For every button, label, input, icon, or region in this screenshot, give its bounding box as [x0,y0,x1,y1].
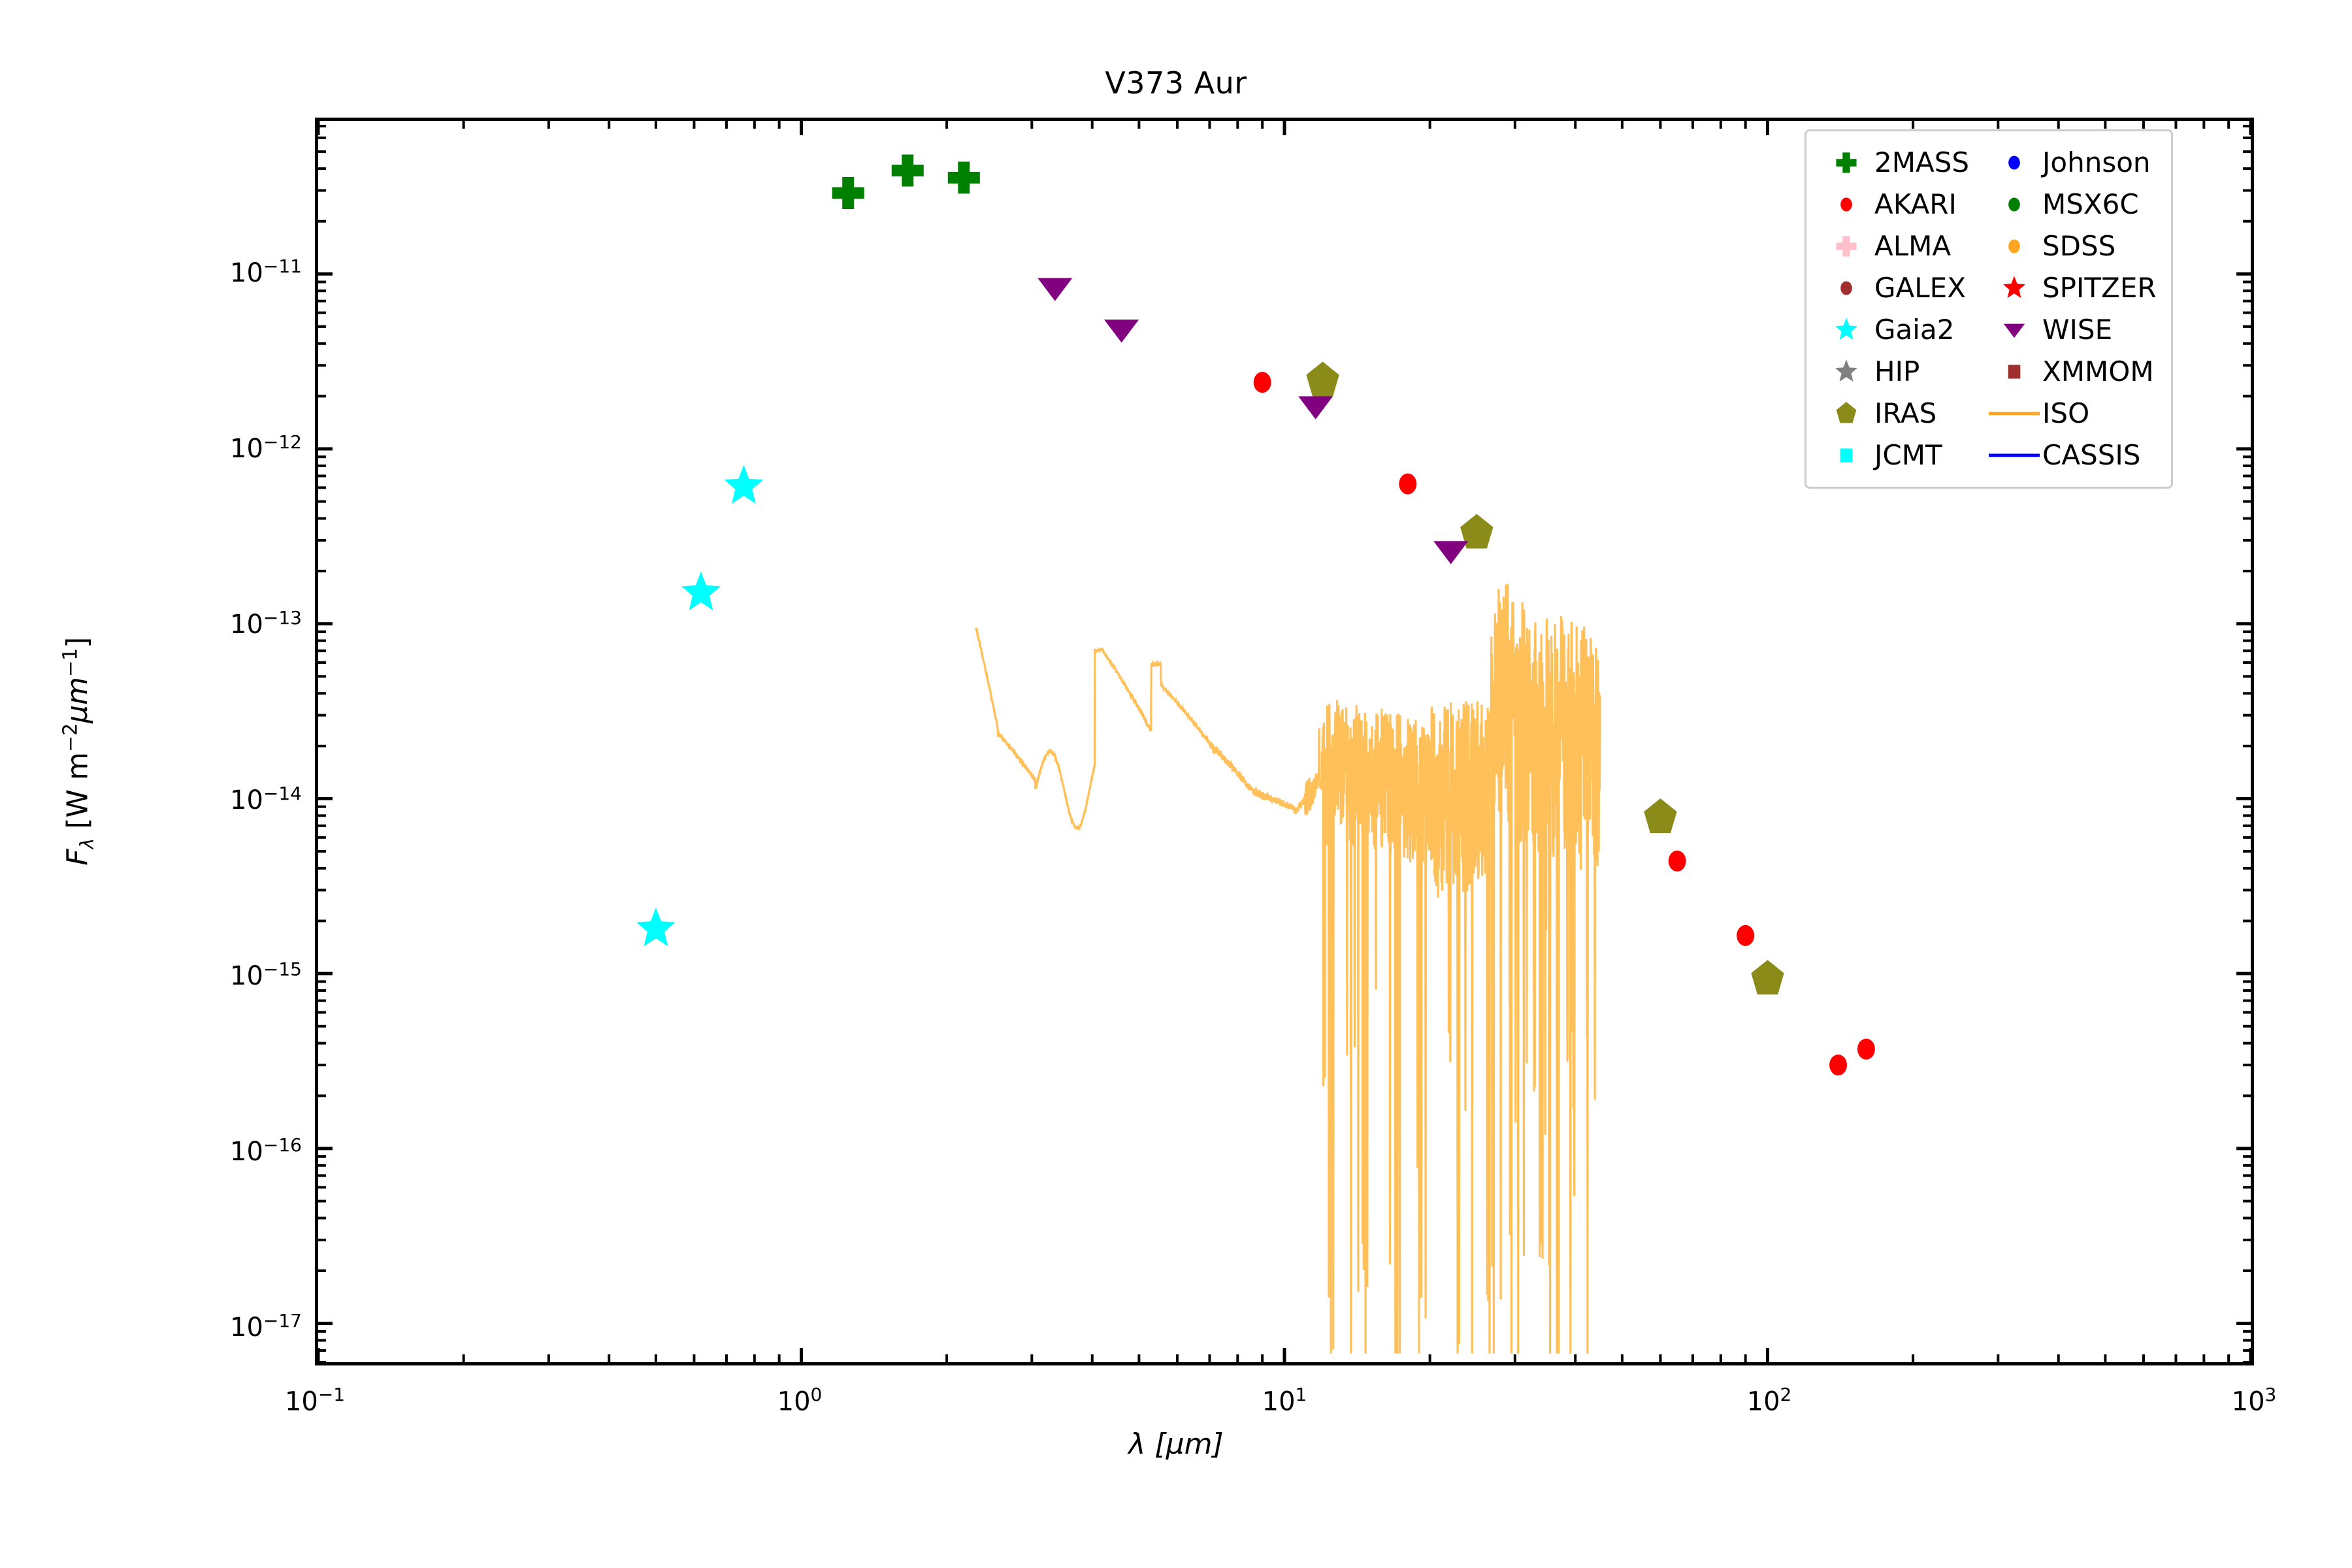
data-point [1433,541,1468,564]
x-tick-label: 103 [2232,1384,2277,1416]
legend-column-1: 2MASSAKARIALMAGALEXGaia2HIPIRASJCMT [1818,142,1969,476]
legend-label: Gaia2 [1874,316,1954,344]
legend-item-cassis[interactable]: CASSIS [1986,434,2157,476]
x-tick-label: 100 [777,1384,823,1416]
data-point [1399,474,1416,495]
legend-label: HIP [1874,358,1919,385]
legend-label: GALEX [1874,274,1966,302]
square-icon [1818,437,1874,474]
pentagon-icon [1818,395,1874,432]
circle-icon [1986,186,2042,223]
data-point [1737,925,1754,946]
legend-label: JCMT [1874,442,1942,469]
legend-marker-gaia2 [1818,312,1874,348]
legend-label: WISE [2042,316,2112,344]
legend-label: Johnson [2042,149,2151,176]
legend-item-spitzer[interactable]: SPITZER [1986,267,2157,309]
legend-label: ISO [2042,400,2089,427]
line-icon [1986,437,2042,474]
legend-marker-alma [1818,228,1874,265]
series-gaia2-points [636,465,763,947]
y-tick-label: 10−12 [139,431,302,463]
data-point [1306,362,1339,397]
data-point [1037,278,1072,301]
legend-label: XMMOM [2042,358,2154,385]
y-tick-label: 10−13 [139,607,302,640]
legend-item-johnson[interactable]: Johnson [1986,142,2157,184]
legend-label: CASSIS [2042,442,2140,469]
legend-marker-hip [1818,353,1874,390]
sed-figure: V373 Aur 10−110010110210310−1710−1610−15… [0,0,2352,1568]
legend-marker-galex [1818,270,1874,306]
data-point [681,572,721,611]
series-2mass-points [832,155,980,209]
legend-marker-wise [1986,312,2042,348]
data-point [892,155,924,187]
circle-icon [1986,228,2042,265]
legend-item-xmmom[interactable]: XMMOM [1986,351,2157,393]
circle-icon [1818,270,1874,306]
legend-item-2mass[interactable]: 2MASS [1818,142,1969,184]
data-point [636,907,676,947]
legend-marker-johnson [1986,144,2042,181]
x-axis-label: λ [μm] [0,1428,2352,1461]
legend-marker-jcmt [1818,437,1874,474]
legend-marker-spitzer [1986,270,2042,306]
legend-marker-akari [1818,186,1874,223]
legend-marker-msx6c [1986,186,2042,223]
legend-marker-cassis [1986,437,2042,474]
y-tick-label: 10−11 [139,255,302,287]
star-icon [1818,353,1874,390]
legend-item-akari[interactable]: AKARI [1818,184,1969,225]
data-point [1254,372,1271,393]
page-title: V373 Aur [0,65,2352,101]
data-point [1829,1054,1847,1075]
y-tick-label: 10−14 [139,783,302,815]
legend-item-iras[interactable]: IRAS [1818,393,1969,434]
y-axis-label: Fλ [W m−2μm−1] [59,294,97,1209]
legend-label: 2MASS [1874,149,1969,176]
circle-icon [1818,186,1874,223]
x-tick-label: 101 [1262,1384,1307,1416]
legend-item-galex[interactable]: GALEX [1818,267,1969,309]
star-icon [1986,270,2042,306]
triangle-down-icon [1986,312,2042,348]
data-point [1298,397,1333,419]
data-point [1857,1039,1875,1060]
legend: 2MASSAKARIALMAGALEXGaia2HIPIRASJCMTJohns… [1805,129,2173,489]
line-icon [1986,395,2042,432]
legend-label: IRAS [1874,400,1936,427]
legend-label: ALMA [1874,233,1951,260]
legend-label: AKARI [1874,191,1957,218]
legend-marker-iras [1818,395,1874,432]
plus-icon [1818,144,1874,181]
legend-item-jcmt[interactable]: JCMT [1818,434,1969,476]
legend-label: SPITZER [2042,274,2157,302]
data-point [1669,851,1686,872]
legend-item-iso[interactable]: ISO [1986,393,2157,434]
y-tick-label: 10−17 [139,1310,302,1343]
data-point [832,177,864,209]
plus-icon [1818,228,1874,265]
iso-spectrum [976,584,1600,1354]
x-tick-label: 102 [1747,1384,1792,1416]
legend-item-hip[interactable]: HIP [1818,351,1969,393]
legend-item-msx6c[interactable]: MSX6C [1986,184,2157,225]
legend-item-sdss[interactable]: SDSS [1986,225,2157,267]
legend-marker-sdss [1986,228,2042,265]
y-tick-label: 10−16 [139,1134,302,1167]
legend-marker-2mass [1818,144,1874,181]
legend-marker-iso [1986,395,2042,432]
series-wise-points [1037,278,1468,564]
square-icon [1986,353,2042,390]
legend-marker-xmmom [1986,353,2042,390]
circle-icon [1986,144,2042,181]
legend-column-2: JohnsonMSX6CSDSSSPITZERWISEXMMOMISOCASSI… [1986,142,2157,476]
y-tick-label: 10−15 [139,958,302,991]
legend-item-wise[interactable]: WISE [1986,309,2157,351]
star-icon [1818,312,1874,348]
legend-item-alma[interactable]: ALMA [1818,225,1969,267]
data-point [1751,960,1784,994]
legend-item-gaia2[interactable]: Gaia2 [1818,309,1969,351]
data-point [948,161,980,193]
legend-label: MSX6C [2042,191,2139,218]
data-point [1644,798,1676,833]
x-tick-label: 10−1 [285,1384,345,1416]
data-point [1104,319,1139,342]
legend-label: SDSS [2042,233,2115,260]
data-point [725,465,764,504]
